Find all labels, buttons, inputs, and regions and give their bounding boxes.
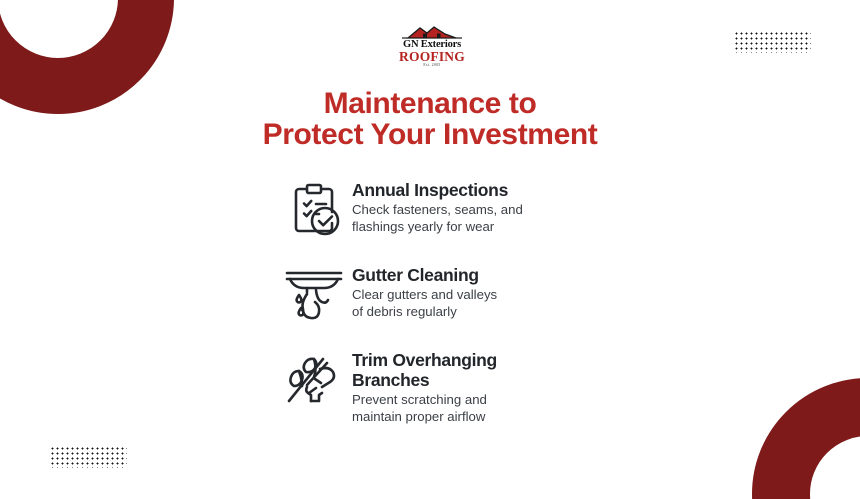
brand-logo: GN Exteriors ROOFING Est. 2005 — [396, 26, 468, 64]
dot-grid-top-right — [734, 31, 811, 53]
feature-description-line-2: of debris regularly — [352, 304, 497, 321]
feature-description: Clear gutters and valleys of debris regu… — [352, 287, 497, 320]
dot-grid-bottom-left — [50, 446, 127, 468]
feature-description: Check fasteners, seams, and flashings ye… — [352, 202, 523, 235]
feature-description: Prevent scratching and maintain proper a… — [352, 392, 497, 425]
decorative-arc-bottom-right — [752, 378, 860, 499]
feature-description-line-1: Prevent scratching and — [352, 392, 497, 409]
pruning-shears-branch-icon — [276, 344, 352, 416]
logo-service-word: ROOFING — [396, 50, 468, 64]
feature-description-line-2: flashings yearly for wear — [352, 219, 523, 236]
feature-description-line-1: Check fasteners, seams, and — [352, 202, 523, 219]
slide-canvas: GN Exteriors ROOFING Est. 2005 Maintenan… — [0, 0, 860, 499]
feature-title: Trim Overhanging Branches — [352, 350, 497, 390]
feature-description-line-1: Clear gutters and valleys — [352, 287, 497, 304]
feature-title: Annual Inspections — [352, 180, 523, 200]
feature-text-block: Gutter Cleaning Clear gutters and valley… — [352, 259, 497, 320]
page-title: Maintenance to Protect Your Investment — [0, 88, 860, 150]
page-title-line-2: Protect Your Investment — [0, 119, 860, 150]
page-title-line-1: Maintenance to — [0, 88, 860, 119]
feature-description-line-2: maintain proper airflow — [352, 409, 497, 426]
feature-text-block: Annual Inspections Check fasteners, seam… — [352, 174, 523, 235]
feature-text-block: Trim Overhanging Branches Prevent scratc… — [352, 344, 497, 425]
list-item: Gutter Cleaning Clear gutters and valley… — [276, 259, 606, 331]
list-item: Annual Inspections Check fasteners, seam… — [276, 174, 606, 246]
logo-established: Est. 2005 — [396, 64, 468, 68]
feature-title-line-1: Trim Overhanging — [352, 350, 497, 370]
feature-list: Annual Inspections Check fasteners, seam… — [276, 174, 606, 438]
roof-house-icon — [396, 26, 468, 39]
gutter-water-icon — [276, 259, 352, 331]
feature-title-line-2: Branches — [352, 370, 497, 390]
list-item: Trim Overhanging Branches Prevent scratc… — [276, 344, 606, 425]
clipboard-checklist-icon — [276, 174, 352, 246]
feature-title: Gutter Cleaning — [352, 265, 497, 285]
